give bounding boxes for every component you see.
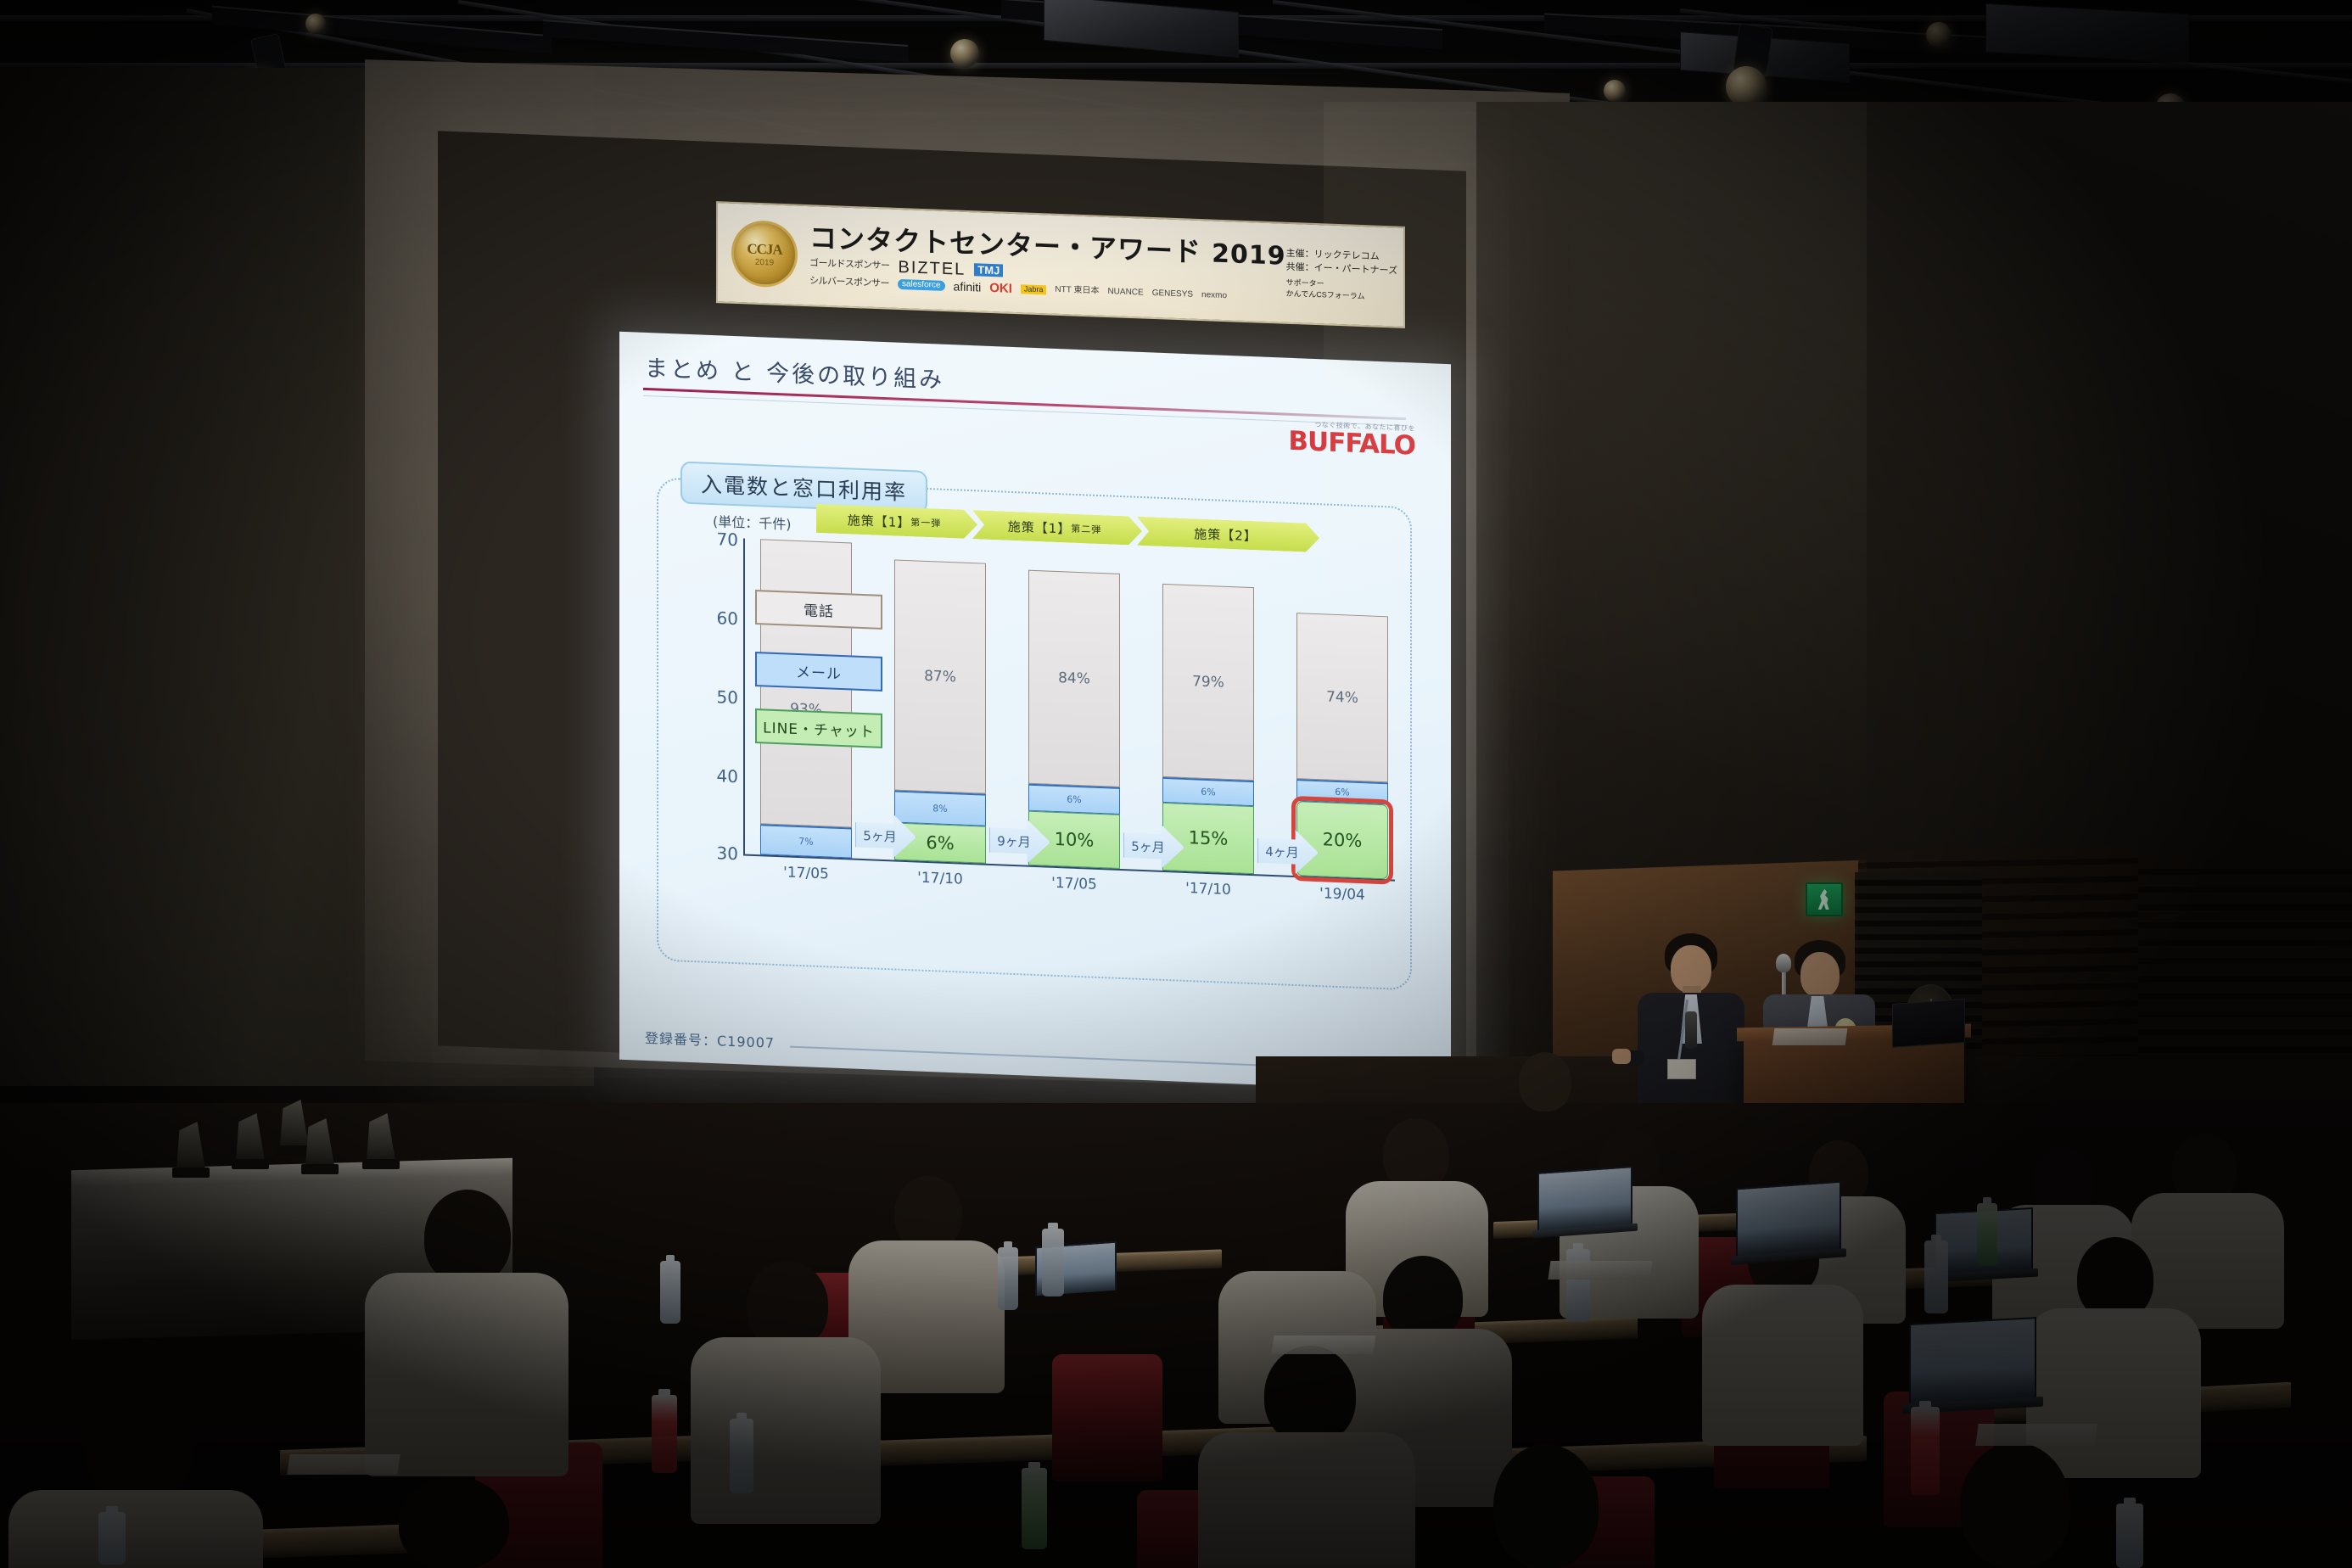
legend-item-chat: LINE・チャット [755, 708, 882, 748]
x-label-4: '17/10 [1185, 880, 1231, 899]
bar-5-phone-value: 74% [1326, 688, 1358, 706]
handout-paper [287, 1454, 400, 1475]
sponsor-biztel: BIZTEL [899, 258, 966, 277]
water-bottle [98, 1512, 126, 1565]
banner-co-organizer: 共催：イー・パートナーズ [1286, 260, 1397, 278]
y-tick-70: 70 [717, 529, 743, 550]
bar-2-mail-value: 8% [932, 803, 947, 815]
bar-4-chat-value: 15% [1189, 827, 1229, 849]
banner-year: 2019 [1212, 238, 1286, 271]
sponsor-ntt: NTT 東日本 [1055, 286, 1099, 296]
buffalo-logo-block: つなぐ技術で、あなたに喜びを BUFFALO [1288, 419, 1415, 460]
water-bottle [660, 1261, 680, 1324]
bar-4-phone-segment: 79% [1162, 584, 1254, 781]
chart-container: 入電数と窓口利用率 (単位：千件) 施策【1】第一弾 施策【1】第二弾 施策【2… [657, 477, 1412, 990]
conference-hall-scene: CCJA 2019 コンタクトセンター・アワード 2019 ゴールドスポンサー … [0, 0, 2352, 1568]
y-tick-60: 60 [717, 608, 743, 629]
medal-text: CCJA [747, 240, 781, 259]
audience-chair [1052, 1354, 1162, 1481]
water-bottle [730, 1419, 753, 1493]
audience-laptop [1537, 1166, 1632, 1232]
water-bottle [2116, 1504, 2143, 1568]
interval-3-label: 5ヶ月 [1131, 837, 1165, 856]
bar-3-phone-segment: 84% [1028, 570, 1120, 787]
interval-2-label: 9ヶ月 [997, 832, 1031, 851]
bar-3: 84% 6% 10% [1028, 570, 1120, 869]
bar-4-mail-value: 6% [1201, 787, 1215, 798]
drink-bottle [1022, 1468, 1047, 1549]
chart-title: 入電数と窓口利用率 [680, 462, 927, 513]
handout-paper [1975, 1424, 2097, 1446]
podium-microphone-icon [1776, 954, 1791, 972]
legend-item-mail: メール [755, 652, 882, 692]
chart-plot-area: 70 60 50 40 30 93% 7% [706, 537, 1395, 929]
bar-5-phone-segment: 74% [1296, 613, 1388, 782]
phase-1-suffix: 第一弾 [910, 515, 941, 529]
bar-3-mail-value: 6% [1067, 793, 1081, 805]
sponsor-oki: OKI [989, 281, 1012, 294]
podium-papers [1772, 1028, 1848, 1045]
bar-4-mail-segment: 6% [1162, 777, 1254, 806]
bar-2: 87% 8% 6% [894, 559, 986, 863]
bar-5-chat-value: 20% [1323, 829, 1363, 851]
bar-3-phone-value: 84% [1058, 669, 1090, 687]
water-bottle [1924, 1240, 1948, 1313]
sponsor-jabra: Jabra [1021, 284, 1047, 294]
sponsor-nexmo: nexmo [1201, 291, 1227, 300]
water-bottle [1566, 1249, 1590, 1322]
bar-5: 74% 6% 20% [1296, 613, 1388, 879]
name-badge [1667, 1059, 1696, 1079]
bar-1-mail-value: 7% [798, 836, 813, 848]
x-label-5: '19/04 [1319, 885, 1365, 904]
emergency-exit-sign-icon [1806, 882, 1843, 916]
bar-3-mail-segment: 6% [1028, 784, 1120, 815]
sponsor-afiniti: afiniti [954, 280, 982, 293]
handout-paper [1271, 1336, 1375, 1354]
handout-paper [1548, 1261, 1652, 1280]
legend-item-phone: 電話 [755, 590, 882, 630]
bar-2-phone-value: 87% [924, 668, 956, 686]
drink-bottle [1911, 1407, 1940, 1495]
registration-number: 登録番号：C19007 [645, 1027, 775, 1052]
y-tick-50: 50 [717, 686, 743, 708]
audience-laptop [1736, 1181, 1841, 1258]
bar-5-mail-value: 6% [1335, 787, 1349, 798]
sponsor-salesforce: salesforce [898, 279, 945, 291]
x-label-1: '17/05 [783, 864, 829, 882]
audience-laptop [1909, 1317, 2036, 1405]
sponsor-genesys: GENESYS [1152, 289, 1193, 300]
bar-1-mail-segment: 7% [760, 824, 852, 858]
phase-chevron-1: 施策【1】第一弾 [816, 504, 977, 539]
bar-5-chat-segment: 20% [1296, 801, 1388, 879]
bar-4-chat-segment: 15% [1162, 803, 1254, 874]
y-tick-30: 30 [717, 843, 743, 864]
buffalo-logo: BUFFALO [1288, 428, 1415, 460]
sponsor-nuance: NUANCE [1107, 288, 1143, 298]
bar-3-chat-value: 10% [1055, 829, 1095, 851]
phase-chevron-2: 施策【1】第二弾 [972, 510, 1142, 546]
award-medal-icon: CCJA 2019 [731, 220, 798, 288]
interval-1-label: 5ヶ月 [863, 826, 897, 846]
bar-4-phone-value: 79% [1192, 673, 1224, 691]
phase-3-label: 施策【2】 [1194, 524, 1257, 545]
bar-2-phone-segment: 87% [894, 559, 986, 793]
water-bottle [998, 1247, 1018, 1310]
bar-4: 79% 6% 15% [1162, 584, 1254, 874]
phase-2-label: 施策【1】 [1008, 517, 1072, 537]
drink-bottle [652, 1395, 677, 1473]
phase-chevron-3: 施策【2】 [1137, 517, 1319, 552]
handheld-microphone-icon [1685, 1011, 1697, 1049]
bar-2-chat-value: 6% [926, 832, 954, 854]
presentation-slide: まとめ と 今後の取り組み つなぐ技術で、あなたに喜びを BUFFALO 入電数… [619, 332, 1451, 1093]
interval-4-label: 4ヶ月 [1265, 842, 1299, 861]
podium-laptop [1892, 999, 1965, 1048]
chart-legend: 電話 メール LINE・チャット [755, 590, 882, 760]
silver-sponsor-label: シルバースポンサー [809, 277, 889, 288]
sponsor-tmj: TMJ [974, 263, 1003, 277]
water-bottle [1042, 1229, 1064, 1296]
y-axis [743, 538, 745, 854]
drink-bottle [1977, 1203, 1997, 1266]
x-label-2: '17/10 [917, 870, 963, 888]
phase-1-label: 施策【1】 [848, 511, 911, 531]
x-label-3: '17/05 [1051, 875, 1097, 893]
bar-2-mail-segment: 8% [894, 790, 986, 826]
y-tick-40: 40 [717, 765, 743, 787]
gold-sponsor-label: ゴールドスポンサー [809, 259, 890, 271]
phase-2-suffix: 第二弾 [1071, 522, 1101, 536]
medal-year: 2019 [755, 257, 774, 267]
